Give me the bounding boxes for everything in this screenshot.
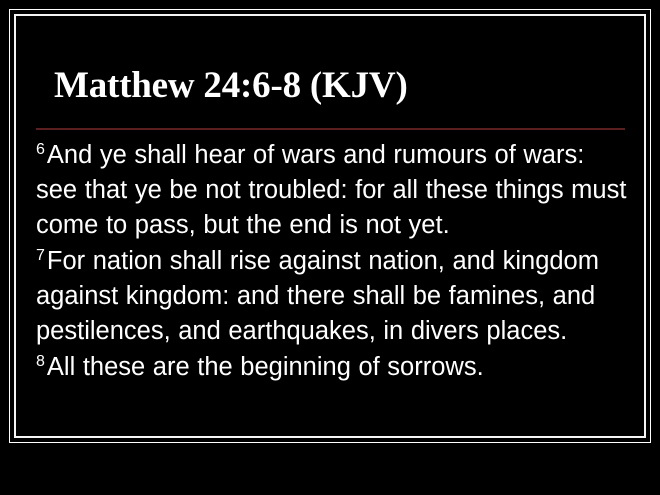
verse-number: 6 <box>36 141 47 158</box>
presentation-slide: Matthew 24:6-8 (KJV) 6And ye shall hear … <box>0 0 660 495</box>
title-divider <box>36 128 625 130</box>
scripture-body: 6And ye shall hear of wars and rumours o… <box>36 138 630 386</box>
verse-text: All these are the beginning of sorrows. <box>47 353 484 381</box>
verse-text: For nation shall rise against nation, an… <box>36 247 599 345</box>
verse-paragraph: 6And ye shall hear of wars and rumours o… <box>36 138 630 243</box>
verse-paragraph: 8All these are the beginning of sorrows. <box>36 350 630 385</box>
page-title: Matthew 24:6-8 (KJV) <box>36 22 630 108</box>
verse-text: And ye shall hear of wars and rumours of… <box>36 141 626 239</box>
verse-number: 8 <box>36 353 47 370</box>
verse-paragraph: 7For nation shall rise against nation, a… <box>36 244 630 349</box>
verse-number: 7 <box>36 247 47 264</box>
slide-content: Matthew 24:6-8 (KJV) 6And ye shall hear … <box>36 22 630 435</box>
